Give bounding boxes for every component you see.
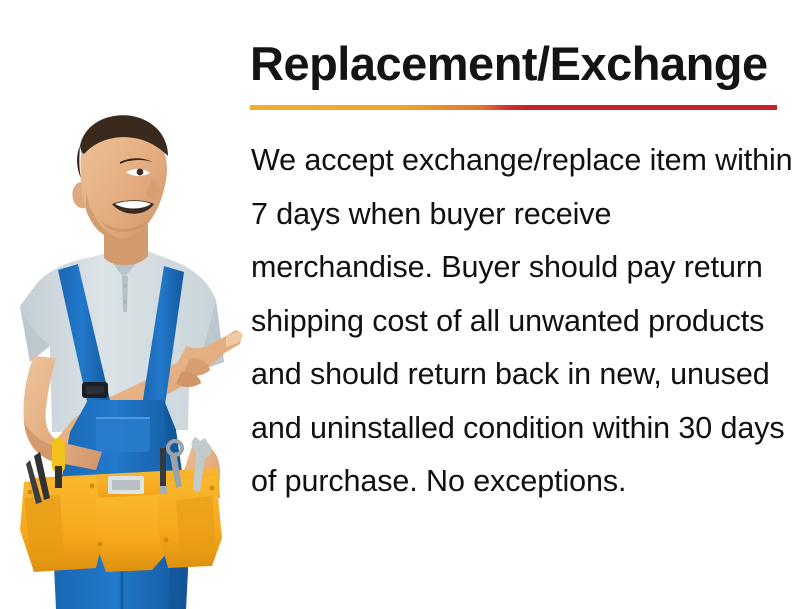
title-divider xyxy=(250,105,777,110)
text-column: Replacement/Exchange We accept exchange/… xyxy=(248,0,800,609)
page-title: Replacement/Exchange xyxy=(250,36,798,92)
chisel-icon xyxy=(159,448,167,494)
head xyxy=(72,115,168,265)
handyman-pointing-icon xyxy=(0,100,245,609)
handyman-illustration xyxy=(0,100,245,609)
policy-body-text: We accept exchange/replace item within 7… xyxy=(251,134,796,509)
policy-banner: Replacement/Exchange We accept exchange/… xyxy=(0,0,800,609)
